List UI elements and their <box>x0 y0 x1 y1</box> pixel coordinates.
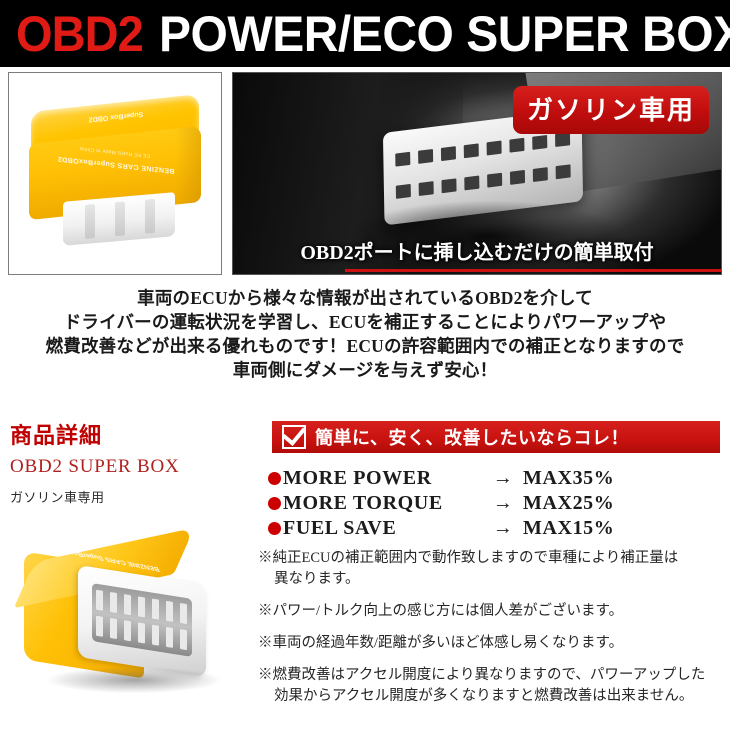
note-item: ※車両の経過年数/距離が多いほど体感し易くなります。 <box>258 633 724 654</box>
cavity-pin <box>152 625 159 646</box>
cavity-pin <box>110 592 117 613</box>
description-line-1: 車両のECUから様々な情報が出されているOBD2を介して <box>0 286 730 310</box>
note-line: ※純正ECUの補正範囲内で動作致しますので車種により補正量は <box>258 548 724 569</box>
list-item: MORE TORQUE → MAX25% <box>268 491 723 516</box>
cavity-pin <box>180 603 187 624</box>
note-item: ※燃費改善はアクセル開度により異なりますので、パワーアップした 効果からアクセル… <box>258 665 724 707</box>
note-line: ※パワー/トルク向上の感じ方には個人差がございます。 <box>258 601 724 622</box>
pin <box>532 135 547 150</box>
description-line-3: 燃費改善などが出来る優れものです！ECUの許容範囲内での補正となりますので <box>0 334 730 358</box>
feature-label: MORE TORQUE <box>283 492 483 515</box>
pin <box>487 173 502 188</box>
list-item: FUEL SAVE → MAX15% <box>268 516 723 541</box>
feature-value: MAX15% <box>523 517 614 540</box>
pin <box>533 167 548 182</box>
details-product-name: OBD2 SUPER BOX <box>10 456 245 478</box>
product-advertisement-page: OBD2 POWER/ECO SUPER BOX SuperBox OBD2 C… <box>0 0 730 730</box>
obd2-dongle-top-view: SuperBox OBD2 CE FC RoHS Made in China B… <box>27 99 205 249</box>
pin <box>395 152 410 167</box>
obd2-port-photo: ガソリン車用 OBD2ポートに挿し込むだけの簡単取付 <box>232 72 722 275</box>
caption-underline <box>345 269 721 272</box>
feature-banner: 簡単に、安く、改善したいならコレ！ <box>272 421 720 453</box>
feature-label: MORE POWER <box>283 467 483 490</box>
cavity-pin <box>138 622 145 643</box>
cavity-pin <box>152 599 159 620</box>
dongle-plug <box>63 192 175 246</box>
feature-list: MORE POWER → MAX35% MORE TORQUE → MAX25%… <box>268 466 723 541</box>
obd2-dongle-connector-view: BENZINE CARS SuperBoxOBD2 <box>8 535 238 700</box>
note-item: ※パワー/トルク向上の感じ方には個人差がございます。 <box>258 601 724 622</box>
check-icon <box>282 425 306 449</box>
plug-blade-2 <box>115 201 125 236</box>
description-line-4: 車両側にダメージを与えず安心！ <box>0 358 730 382</box>
product-details-block: 商品詳細 OBD2 SUPER BOX ガソリン車専用 <box>10 418 245 506</box>
header-brand-obd2: OBD2 <box>16 5 143 63</box>
cavity-pin <box>138 596 145 617</box>
cavity-pin <box>166 601 173 622</box>
pin <box>419 181 434 196</box>
pin <box>464 176 479 191</box>
arrow-right-icon: → <box>483 517 523 540</box>
details-heading: 商品詳細 <box>10 418 245 450</box>
feature-value: MAX35% <box>523 467 614 490</box>
note-line: ※燃費改善はアクセル開度により異なりますので、パワーアップした <box>258 665 724 686</box>
description-paragraph: 車両のECUから様々な情報が出されているOBD2を介して ドライバーの運転状況を… <box>0 286 730 382</box>
status-badge-gasoline: ガソリン車用 <box>513 86 709 134</box>
pin <box>464 143 479 158</box>
cavity-pin <box>124 594 131 615</box>
pin <box>555 132 570 147</box>
list-item: MORE POWER → MAX35% <box>268 466 723 491</box>
description-line-2: ドライバーの運転状況を学習し、ECUを補正することによりパワーアップや <box>0 310 730 334</box>
cavity-pin <box>166 627 173 648</box>
arrow-right-icon: → <box>483 492 523 515</box>
feature-banner-label: 簡単に、安く、改善したいならコレ！ <box>315 424 629 450</box>
connector-pin-row-top <box>395 132 570 172</box>
page-header: OBD2 POWER/ECO SUPER BOX <box>0 0 730 67</box>
bullet-icon <box>268 522 281 535</box>
note-item: ※純正ECUの補正範囲内で動作致しますので車種により補正量は 異なります。 <box>258 548 724 590</box>
bullet-icon <box>268 497 281 510</box>
header-title-group: OBD2 POWER/ECO SUPER BOX <box>0 5 730 63</box>
pin <box>441 146 456 161</box>
pin <box>556 164 571 179</box>
cavity-pin <box>96 590 103 611</box>
disclaimer-notes: ※純正ECUの補正範囲内で動作致しますので車種により補正量は 異なります。 ※パ… <box>258 548 724 718</box>
pin <box>510 170 525 185</box>
details-compatibility-note: ガソリン車専用 <box>10 487 245 506</box>
note-line: 異なります。 <box>258 569 724 590</box>
page-title: POWER/ECO SUPER BOX <box>159 5 730 63</box>
note-line: 効果からアクセル開度が多くなりますと燃費改善は出来ません。 <box>258 686 724 707</box>
cavity-pin <box>180 629 187 650</box>
pin <box>487 141 502 156</box>
note-line: ※車両の経過年数/距離が多いほど体感し易くなります。 <box>258 633 724 654</box>
pin <box>441 178 456 193</box>
arrow-right-icon: → <box>483 467 523 490</box>
pin <box>418 149 433 164</box>
plug-blade-3 <box>145 199 155 234</box>
iso-plug-cavity <box>92 583 192 657</box>
iso-dongle-shadow <box>48 667 220 693</box>
connector-pin-row-bottom <box>396 164 571 204</box>
pin <box>396 184 411 199</box>
cavity-pin <box>124 620 131 641</box>
hero-photo-row: SuperBox OBD2 CE FC RoHS Made in China B… <box>0 72 730 277</box>
photo-caption: OBD2ポートに挿し込むだけの簡単取付 <box>233 236 721 268</box>
product-photo-frame: SuperBox OBD2 CE FC RoHS Made in China B… <box>8 72 222 275</box>
pin <box>509 138 524 153</box>
cavity-pin <box>96 616 103 637</box>
bullet-icon <box>268 472 281 485</box>
plug-blade-1 <box>85 204 95 239</box>
feature-value: MAX25% <box>523 492 614 515</box>
feature-label: FUEL SAVE <box>283 517 483 540</box>
cavity-pin <box>110 618 117 639</box>
